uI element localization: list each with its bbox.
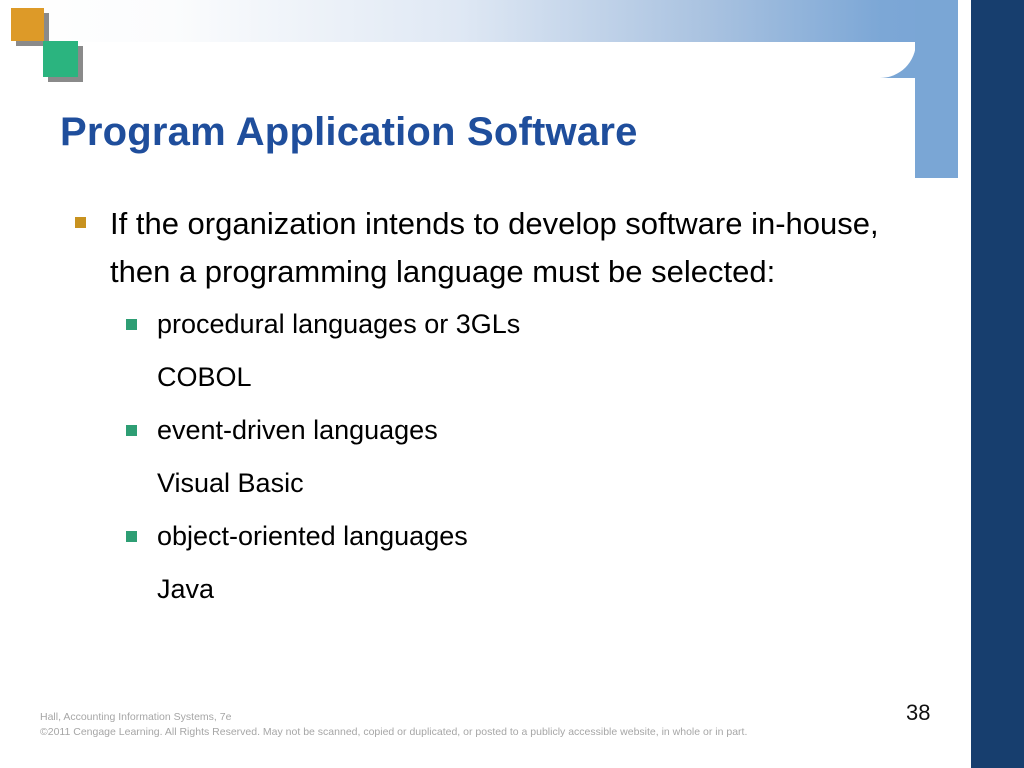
- sub-bullet-example: Java: [66, 563, 911, 616]
- footer-source-line: Hall, Accounting Information Systems, 7e: [40, 710, 747, 725]
- main-bullet-text: If the organization intends to develop s…: [110, 206, 879, 289]
- green-square-decoration: [43, 41, 78, 77]
- page-number: 38: [906, 700, 930, 726]
- sub-bullet-example-text: Java: [157, 574, 214, 604]
- footer-attribution: Hall, Accounting Information Systems, 7e…: [40, 710, 747, 740]
- band-corner-notch: [880, 42, 916, 78]
- sub-bullet-example: COBOL: [66, 351, 911, 404]
- sub-bullet-item: event-driven languages: [66, 404, 911, 457]
- gold-square-bullet-icon: [75, 217, 86, 228]
- sub-bullet-text: event-driven languages: [157, 415, 438, 445]
- main-bullet-item: If the organization intends to develop s…: [66, 200, 911, 296]
- orange-square-decoration: [11, 8, 44, 41]
- slide-body: If the organization intends to develop s…: [66, 200, 911, 616]
- green-square-bullet-icon: [126, 531, 137, 542]
- sub-bullet-text: procedural languages or 3GLs: [157, 309, 520, 339]
- slide-title: Program Application Software: [60, 110, 890, 154]
- sub-bullet-item: object-oriented languages: [66, 510, 911, 563]
- sub-bullet-example: Visual Basic: [66, 457, 911, 510]
- vertical-blue-band: [915, 0, 958, 178]
- sub-bullet-example-text: COBOL: [157, 362, 252, 392]
- top-gradient-band: [0, 0, 958, 42]
- footer-copyright-line: ©2011 Cengage Learning. All Rights Reser…: [40, 725, 747, 740]
- green-square-bullet-icon: [126, 319, 137, 330]
- sub-bullet-item: procedural languages or 3GLs: [66, 298, 911, 351]
- right-navy-stripe: [971, 0, 1024, 768]
- green-square-bullet-icon: [126, 425, 137, 436]
- sub-bullet-example-text: Visual Basic: [157, 468, 304, 498]
- presentation-slide: Program Application Software If the orga…: [0, 0, 1024, 768]
- sub-bullet-text: object-oriented languages: [157, 521, 468, 551]
